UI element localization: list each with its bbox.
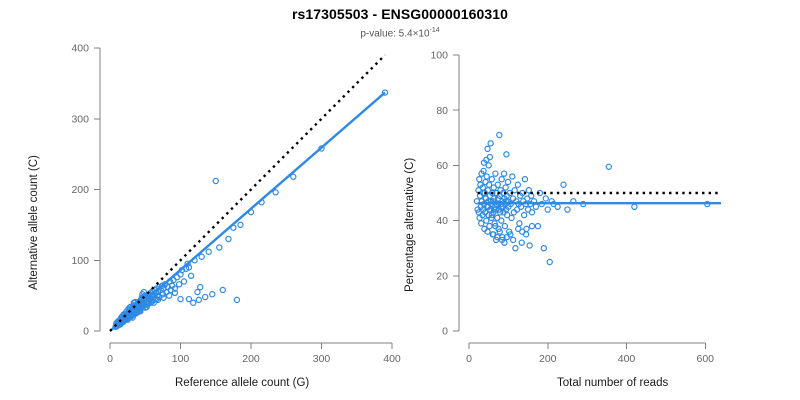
x-axis-tick-label: 400 (383, 353, 401, 365)
data-point (510, 174, 515, 179)
x-axis-tick-label: 0 (466, 353, 472, 365)
data-point (510, 237, 515, 242)
data-point (238, 222, 243, 227)
y-axis-tick-label: 100 (71, 255, 89, 267)
data-point (195, 289, 200, 294)
data-point (529, 210, 534, 215)
data-point (483, 179, 488, 184)
data-point (547, 259, 552, 264)
data-point (533, 204, 538, 209)
y-axis-tick-label: 400 (71, 43, 89, 55)
data-point (497, 132, 502, 137)
y-axis-tick-label: 40 (436, 215, 448, 227)
data-point (196, 297, 201, 302)
data-point (217, 245, 222, 250)
data-point (504, 152, 509, 157)
left-panel-x-axis-label: Reference allele count (G) (175, 377, 309, 389)
y-axis-tick-label: 20 (436, 270, 448, 282)
data-point (220, 287, 225, 292)
data-point (487, 155, 492, 160)
data-point (488, 141, 493, 146)
data-point (527, 243, 532, 248)
data-point (213, 178, 218, 183)
data-point (565, 207, 570, 212)
x-axis-tick-label: 200 (539, 353, 557, 365)
y-axis-tick-label: 0 (83, 326, 89, 338)
data-point (561, 182, 566, 187)
data-point (226, 236, 231, 241)
data-point (199, 254, 204, 259)
y-axis-tick-label: 100 (430, 50, 448, 62)
data-point (493, 171, 498, 176)
data-point (176, 282, 181, 287)
data-point (234, 297, 239, 302)
data-point (535, 224, 540, 229)
x-axis-tick-label: 400 (618, 353, 636, 365)
data-point (178, 297, 183, 302)
data-point (505, 179, 510, 184)
data-point (188, 273, 193, 278)
data-point (273, 190, 278, 195)
data-point (523, 232, 528, 237)
data-point (529, 224, 534, 229)
y-axis-tick-label: 200 (71, 184, 89, 196)
y-axis-tick-label: 300 (71, 113, 89, 125)
pvalue-exponent: -14 (430, 27, 440, 34)
data-point (519, 240, 524, 245)
data-point (509, 215, 514, 220)
x-axis-tick-label: 300 (313, 353, 331, 365)
data-point (513, 246, 518, 251)
regression-line (110, 93, 385, 331)
data-point (515, 182, 520, 187)
data-point (206, 249, 211, 254)
data-point (210, 292, 215, 297)
data-point (167, 293, 172, 298)
data-point (501, 171, 506, 176)
data-point (198, 285, 203, 290)
figure-root: rs17305503 - ENSG00000160310 p-value: 5.… (0, 0, 800, 400)
data-point (489, 177, 494, 182)
y-axis-tick-label: 60 (436, 160, 448, 172)
y-axis-tick-label: 80 (436, 105, 448, 117)
right-panel-x-axis-label: Total number of reads (557, 377, 668, 389)
data-point (555, 204, 560, 209)
figure-subtitle: p-value: 5.4×10-14 (0, 27, 800, 39)
data-point (503, 185, 508, 190)
data-point (632, 204, 637, 209)
data-point (522, 212, 527, 217)
right-panel-y-axis-label: Percentage alternative (C) (404, 158, 416, 292)
pvalue-text: p-value: 5.4×10 (360, 28, 429, 39)
data-point (487, 224, 492, 229)
data-point (517, 221, 522, 226)
data-point (543, 196, 548, 201)
data-point (499, 177, 504, 182)
data-point (545, 207, 550, 212)
left-panel-y-axis-label: Alternative allele count (C) (28, 155, 40, 290)
data-point (203, 294, 208, 299)
x-axis-tick-label: 600 (696, 353, 714, 365)
data-point (484, 174, 489, 179)
x-axis-tick-label: 0 (107, 353, 113, 365)
x-axis-tick-label: 200 (242, 353, 260, 365)
data-point (502, 224, 507, 229)
data-point (181, 279, 186, 284)
data-point (477, 177, 482, 182)
data-point (522, 177, 527, 182)
data-point (191, 300, 196, 305)
data-point (479, 221, 484, 226)
data-point (485, 146, 490, 151)
data-point (541, 246, 546, 251)
x-axis-tick-label: 100 (172, 353, 190, 365)
plot-canvas: 01002003004000100200300400 0204060801000… (0, 0, 800, 400)
data-point (606, 164, 611, 169)
right-scatter-panel: 0204060801000200400600 (430, 50, 721, 365)
data-point (484, 218, 489, 223)
left-scatter-panel: 01002003004000100200300400 (71, 43, 400, 365)
data-point (499, 218, 504, 223)
y-axis-tick-label: 0 (442, 326, 448, 338)
figure-title: rs17305503 - ENSG00000160310 (0, 6, 800, 22)
data-point (495, 182, 500, 187)
